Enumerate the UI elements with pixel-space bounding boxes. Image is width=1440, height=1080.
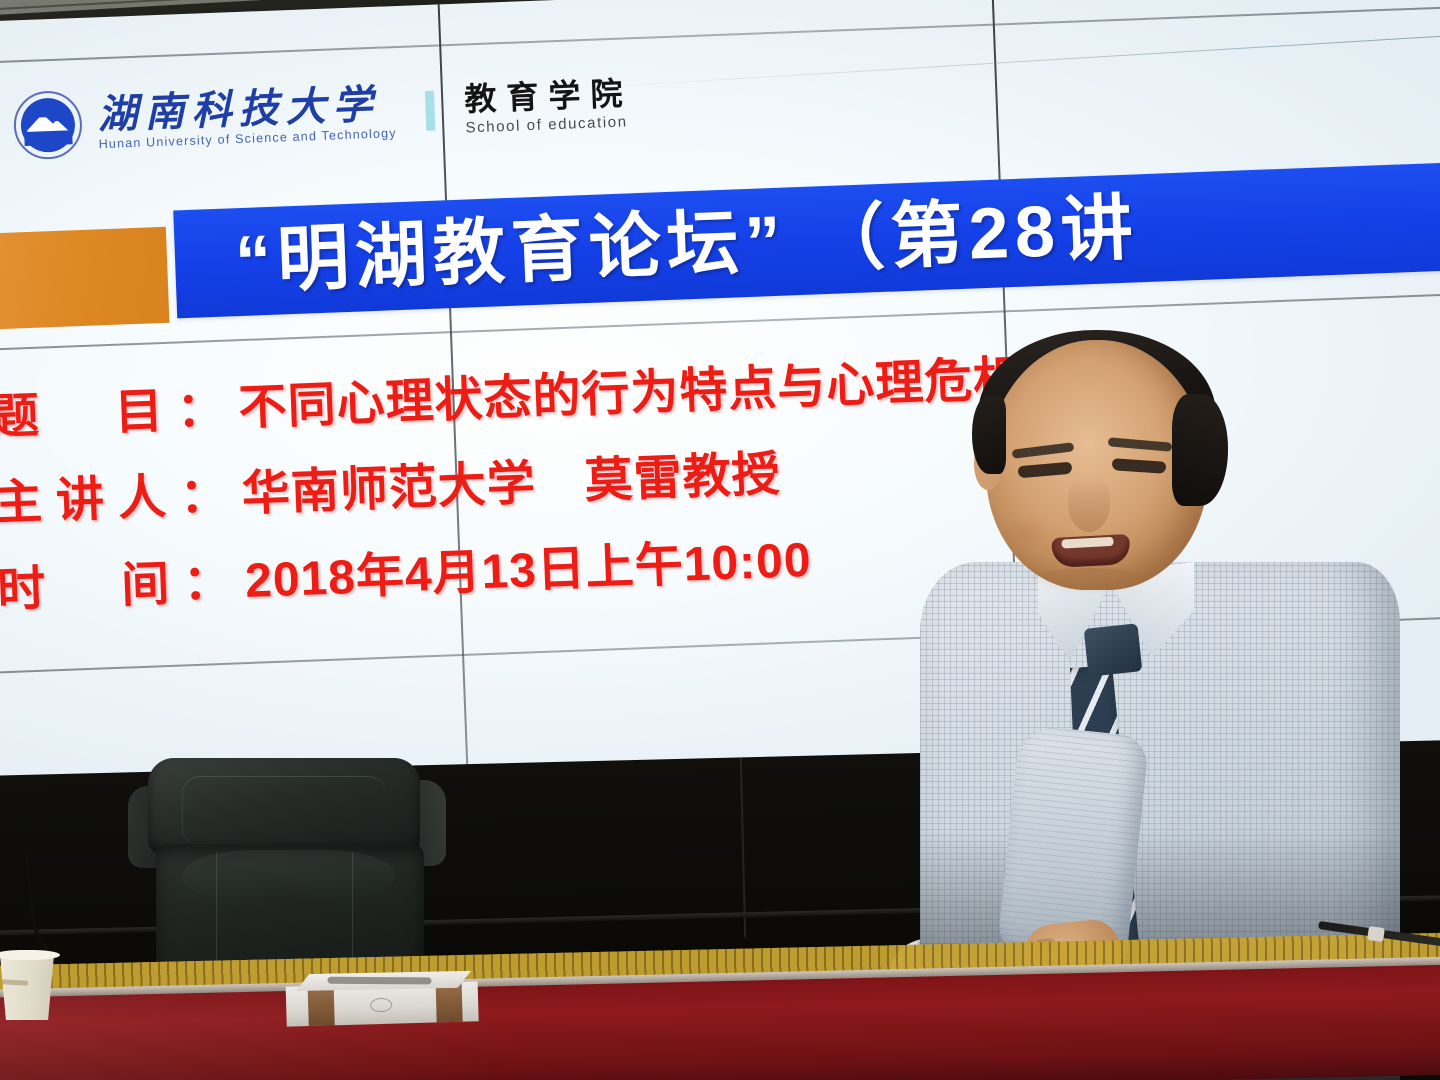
school-name-zh: 教育学院: [464, 77, 633, 115]
detail-label: 主讲人：: [0, 469, 243, 531]
school-name-block: 教育学院 School of education: [464, 77, 634, 136]
slide-hairline-rule: [603, 32, 1440, 87]
tissue-box: [285, 969, 478, 1026]
header-divider: [425, 91, 435, 131]
microphone-stand-knob: [1367, 926, 1385, 942]
tissue-box-panel: [308, 985, 335, 1026]
detail-label: 时 间：: [0, 555, 246, 617]
cheek: [1000, 516, 1050, 550]
forum-banner-text: “明湖教育论坛” （第28讲: [234, 192, 1140, 298]
photo-scene: 湖南科技大学 Hunan University of Science and T…: [0, 0, 1440, 1080]
banner-orange-accent: [0, 227, 169, 330]
paper-cup-rim: [0, 950, 60, 960]
university-emblem-icon: [13, 90, 84, 161]
tissue-box-slit: [327, 977, 431, 985]
detail-label: 题 目：: [0, 382, 240, 444]
panel-seam-horizontal: [0, 5, 1440, 64]
university-name-block: 湖南科技大学 Hunan University of Science and T…: [97, 84, 397, 151]
school-name-en: School of education: [465, 113, 634, 136]
forum-banner: “明湖教育论坛” （第28讲: [173, 159, 1440, 318]
tie-knot: [1084, 623, 1143, 676]
slide-header: 湖南科技大学 Hunan University of Science and T…: [13, 69, 634, 160]
hair-side-right: [1172, 394, 1228, 506]
nose: [1068, 476, 1110, 532]
hair-side-left: [972, 396, 1006, 474]
detail-value: 2018年4月13日上午10:00: [244, 534, 812, 608]
slide-banner-row: “明湖教育论坛” （第28讲: [0, 159, 1440, 329]
chin: [1020, 568, 1160, 594]
detail-value: 华南师范大学 莫雷教授: [241, 448, 782, 521]
backdrop-seam: [740, 757, 746, 937]
chair-headrest: [148, 758, 420, 854]
